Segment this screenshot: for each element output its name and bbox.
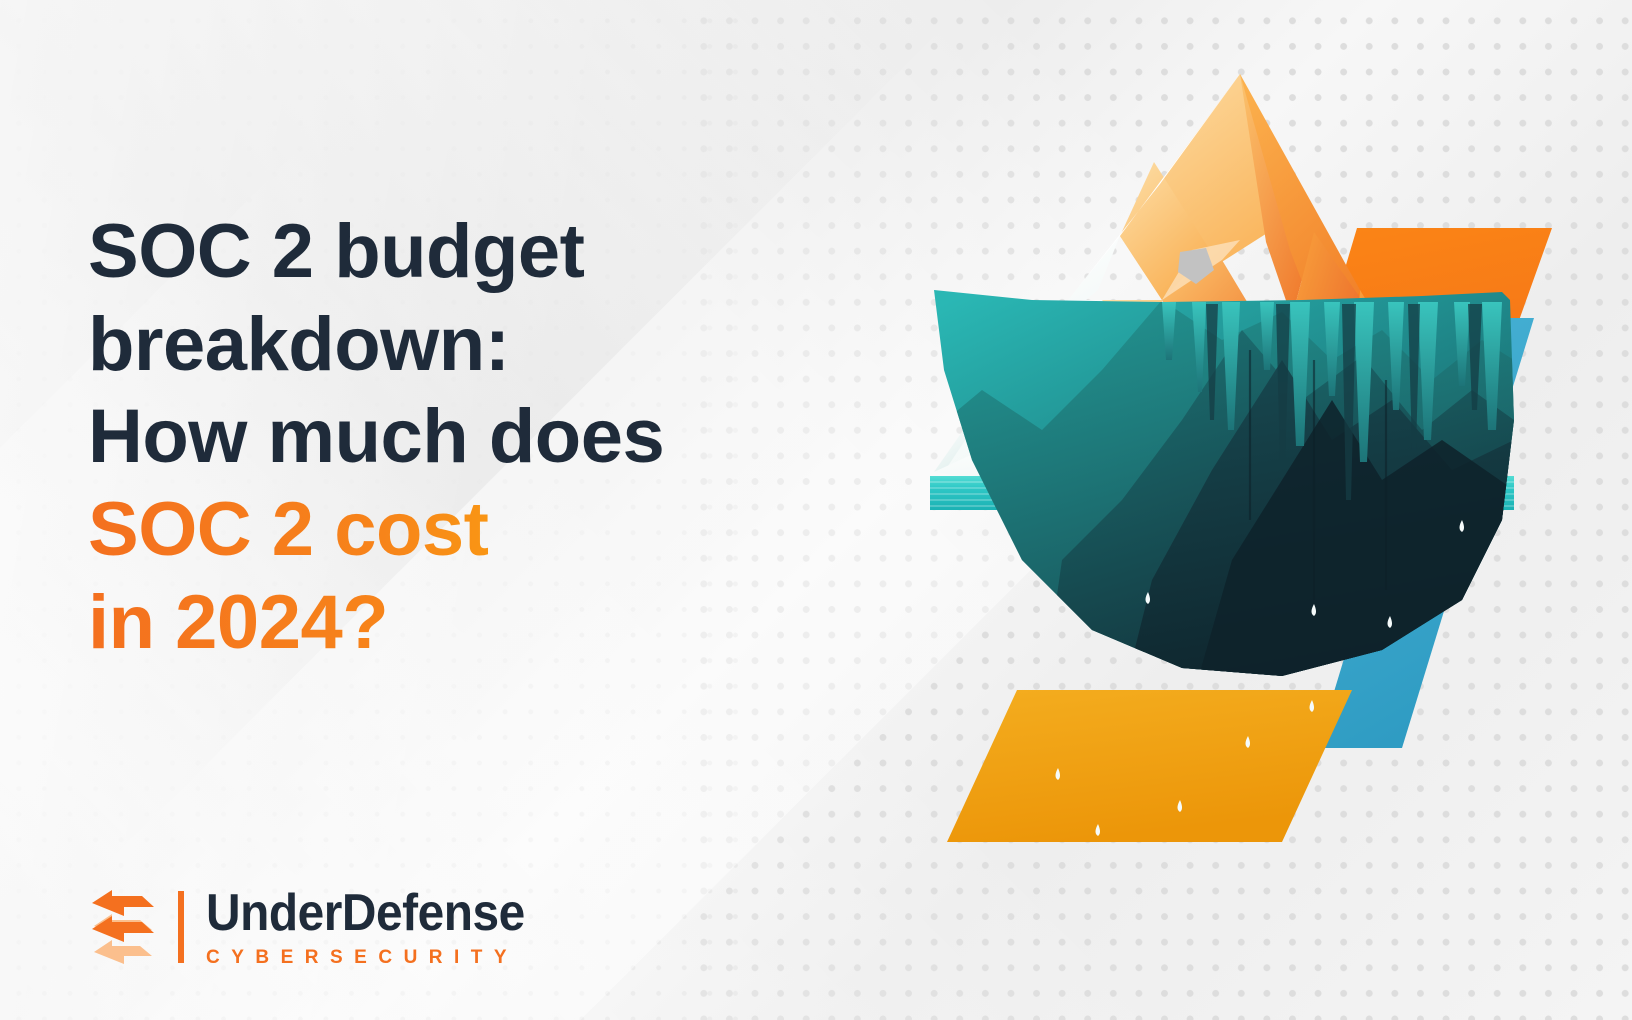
logo-company-name: UnderDefense	[206, 887, 525, 939]
iceberg-underwater	[922, 285, 1532, 705]
logo[interactable]: UnderDefense CYBERSECURITY	[88, 886, 553, 968]
iceberg-illustration	[862, 0, 1632, 1020]
logo-divider	[178, 891, 184, 963]
headline-line-2: breakdown:	[88, 299, 788, 392]
logo-wordmark: UnderDefense CYBERSECURITY	[206, 887, 553, 967]
amber-panel	[947, 690, 1352, 842]
headline-line-5: in 2024?	[88, 577, 788, 670]
page-title: SOC 2 budget breakdown: How much does SO…	[88, 206, 788, 670]
logo-tagline: CYBERSECURITY	[206, 948, 553, 967]
headline-line-3: How much does	[88, 391, 788, 484]
headline-line-4: SOC 2 cost	[88, 484, 788, 577]
headline-line-1: SOC 2 budget	[88, 206, 788, 299]
banner-root: SOC 2 budget breakdown: How much does SO…	[0, 0, 1632, 1020]
double-chevron-left-arrows-icon	[88, 886, 166, 968]
